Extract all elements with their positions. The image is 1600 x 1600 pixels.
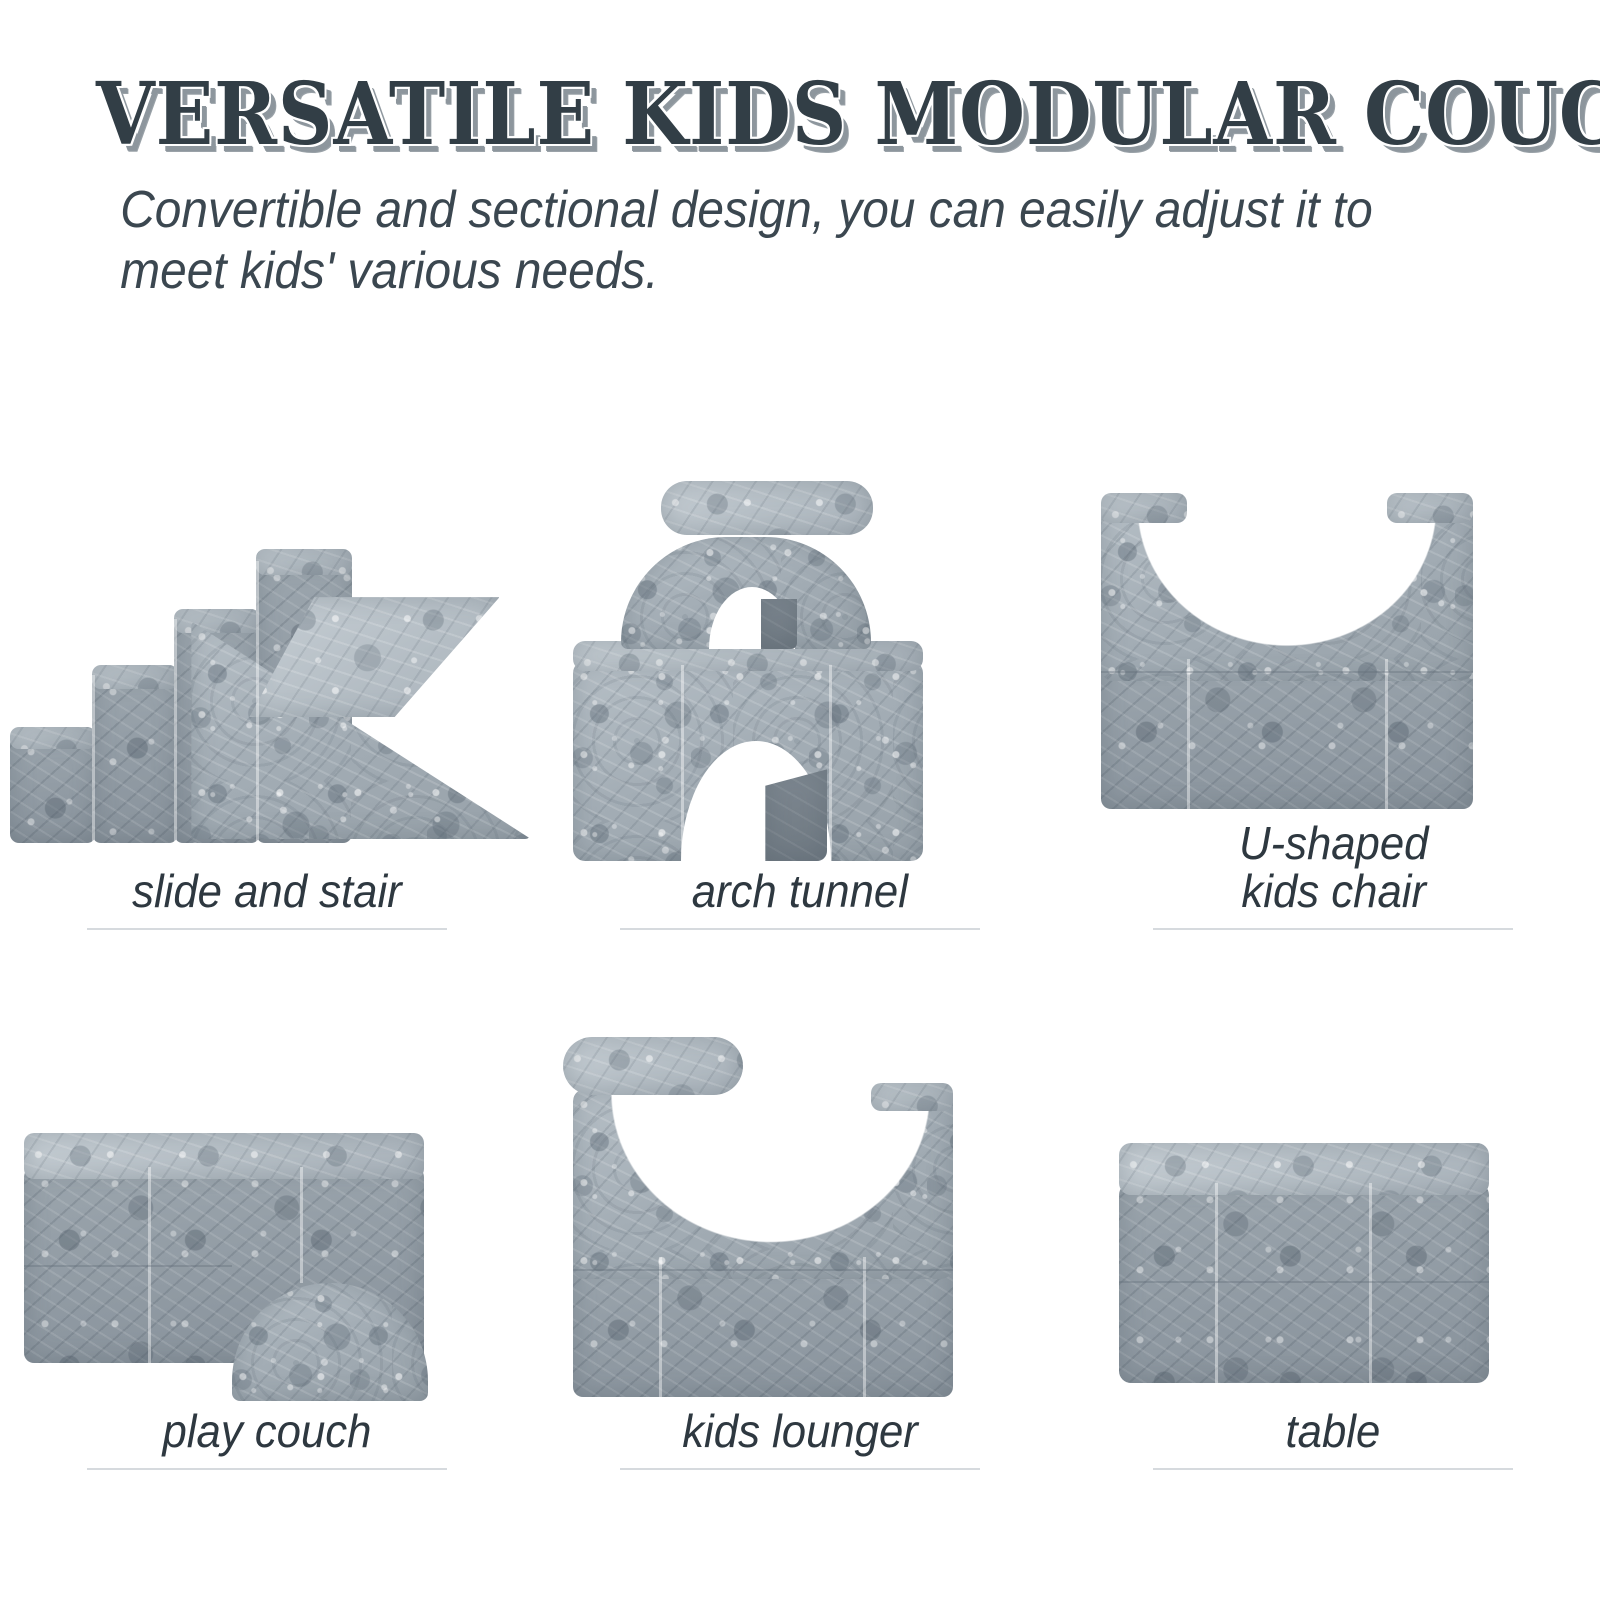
header: VERSATILE KIDS MODULAR COUCH Convertible… (0, 0, 1600, 302)
caption-rule (620, 1468, 980, 1470)
caption-block-kids-lounger: kids lounger (533, 1407, 1066, 1470)
caption-arch-tunnel: arch tunnel (692, 867, 908, 916)
caption-play-couch: play couch (162, 1407, 371, 1456)
config-kids-lounger: kids lounger (533, 940, 1066, 1470)
caption-rule (620, 928, 980, 930)
product-image-arch-tunnel (533, 467, 1066, 867)
config-u-shaped-kids-chair: U-shaped kids chair (1067, 400, 1600, 930)
config-slide-and-stair: slide and stair (0, 400, 533, 930)
caption-block-table: table (1067, 1407, 1600, 1470)
product-image-slide-and-stair (0, 467, 533, 867)
caption-rule (87, 1468, 447, 1470)
page-subtitle: Convertible and sectional design, you ca… (100, 180, 1388, 302)
caption-rule (87, 928, 447, 930)
configuration-grid: slide and stair (0, 400, 1600, 1600)
caption-rule (1153, 1468, 1513, 1470)
config-play-couch: play couch (0, 940, 533, 1470)
product-image-table (1067, 1007, 1600, 1407)
config-table: table (1067, 940, 1600, 1470)
caption-table: table (1286, 1407, 1381, 1456)
caption-slide-and-stair: slide and stair (132, 867, 402, 916)
caption-u-shaped-kids-chair: U-shaped kids chair (1239, 819, 1428, 917)
caption-block-arch-tunnel: arch tunnel (533, 867, 1066, 930)
product-image-u-shaped-kids-chair (1067, 419, 1600, 819)
page-title: VERSATILE KIDS MODULAR COUCH (96, 0, 1504, 158)
caption-block-slide-and-stair: slide and stair (0, 867, 533, 930)
caption-kids-lounger: kids lounger (682, 1407, 918, 1456)
caption-rule (1153, 928, 1513, 930)
product-image-kids-lounger (533, 1007, 1066, 1407)
product-image-play-couch (0, 1007, 533, 1407)
caption-block-play-couch: play couch (0, 1407, 533, 1470)
infographic-page: VERSATILE KIDS MODULAR COUCH Convertible… (0, 0, 1600, 1600)
caption-block-u-shaped-kids-chair: U-shaped kids chair (1067, 819, 1600, 931)
config-arch-tunnel: arch tunnel (533, 400, 1066, 930)
